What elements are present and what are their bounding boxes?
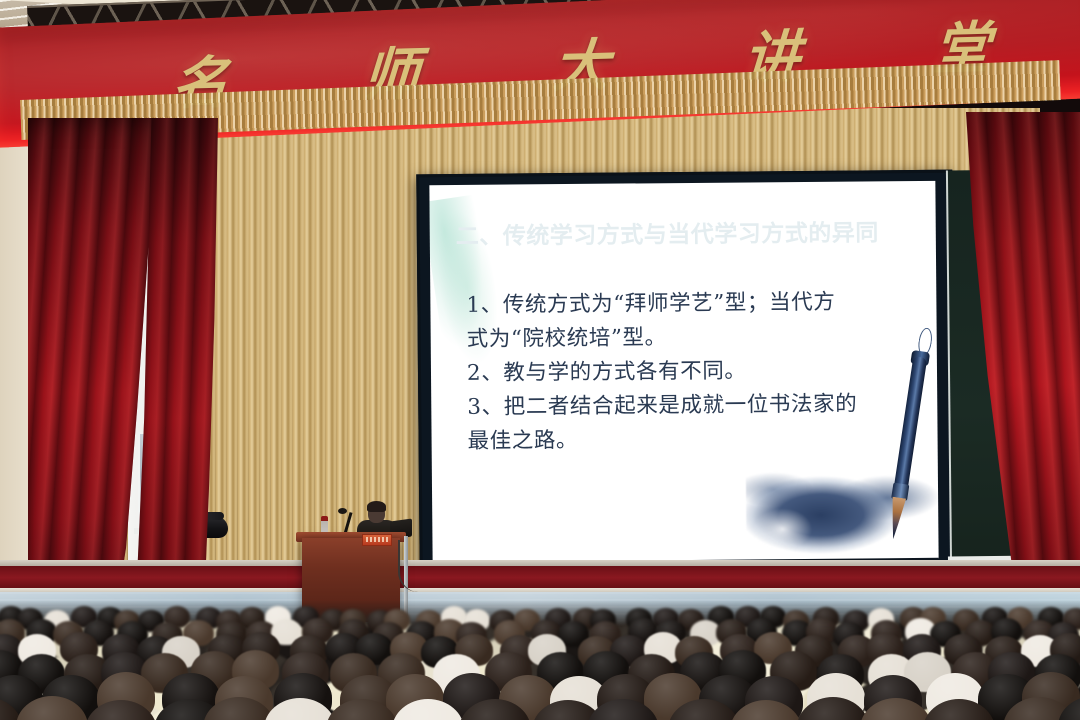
- slide-surface: 二、传统学习方式与当代学习方式的异同 1、传统方式为“拜师学艺”型；当代方 式为…: [429, 181, 938, 563]
- name-plate: [362, 534, 392, 546]
- calligraphy-brush-illustration: [750, 313, 938, 563]
- cable: [398, 540, 422, 592]
- seated-audience: [0, 600, 1080, 720]
- microphone-icon: [338, 508, 347, 514]
- auditorium-scene: 名 师 大 讲 堂 二、传统学习方式与当代学习方式的异同 1、传统方式为“拜师学…: [0, 0, 1080, 720]
- presenter-hair: [367, 501, 386, 512]
- slide-title: 二、传统学习方式与当代学习方式的异同: [456, 213, 926, 251]
- projection-screen: 二、传统学习方式与当代学习方式的异同 1、传统方式为“拜师学艺”型；当代方 式为…: [416, 170, 955, 576]
